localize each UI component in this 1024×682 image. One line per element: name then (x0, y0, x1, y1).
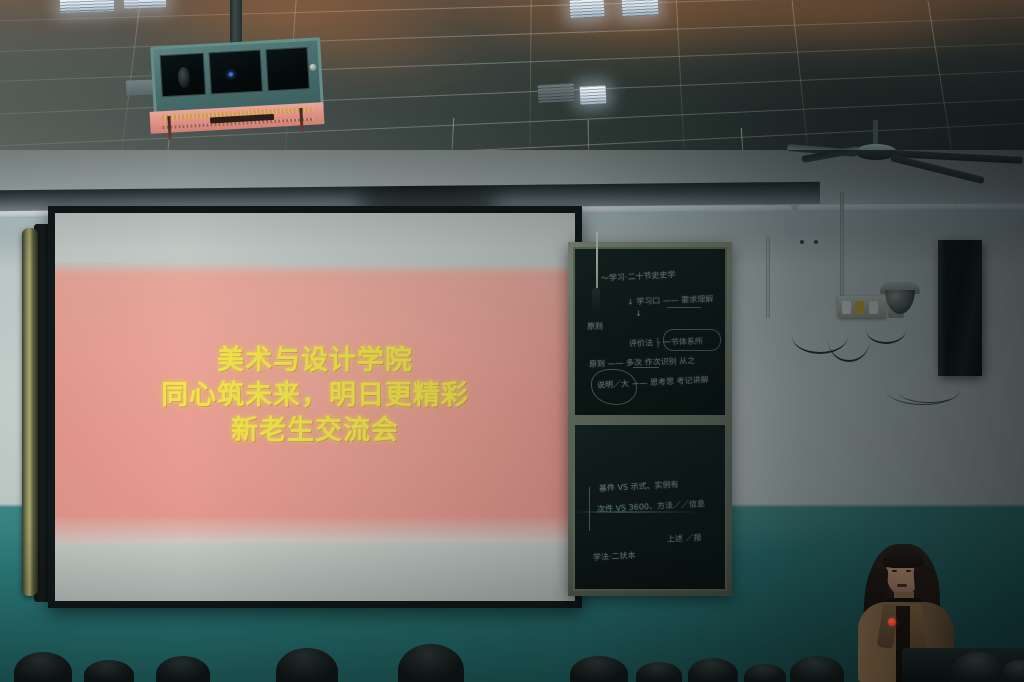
switch-white-right[interactable] (869, 301, 878, 314)
projection-screen-unit: 美术与设计学院 同心筑未来，明日更精彩 新老生交流会 (22, 206, 582, 614)
recessed-light-4 (621, 0, 658, 17)
wall-conduit-pipe (840, 192, 844, 300)
projection-screen-frame: 美术与设计学院 同心筑未来，明日更精彩 新老生交流会 (48, 206, 582, 608)
slide-line-2: 同心筑未来，明日更精彩 (55, 378, 575, 413)
audience-head (636, 662, 682, 682)
projector-lens (177, 67, 190, 89)
cable-connector (592, 288, 600, 312)
audience-silhouettes (0, 636, 1024, 682)
wall-anchor (800, 240, 804, 244)
chalk-text: 上述 ／报 (667, 532, 702, 545)
recessed-light-1 (60, 0, 114, 13)
chalk-text: ↓ 学习口 —— 要求理解 (627, 293, 714, 307)
power-cable (828, 318, 870, 362)
red-badge (888, 618, 896, 626)
audience-head (570, 656, 628, 682)
chalk-text: 基件 VS 示式、实例有 (599, 479, 679, 494)
presenter-mouth (897, 584, 907, 587)
presenter-eye (892, 570, 897, 572)
wall-speaker (938, 240, 982, 376)
screen-side-rail (22, 228, 38, 596)
chalkboard-panel-lower: 基件 VS 示式、实例有 次件 VS 3600、方法／／信息 上述 ／报 学法·… (573, 423, 727, 591)
recessed-light-3 (569, 0, 604, 19)
wall-anchor (814, 240, 818, 244)
slide-line-1: 美术与设计学院 (55, 343, 575, 378)
audience-head (398, 644, 464, 682)
switch-white-left[interactable] (842, 301, 851, 314)
projection-screen-surface: 美术与设计学院 同心筑未来，明日更精彩 新老生交流会 (55, 213, 575, 601)
ceiling-projector (140, 0, 360, 140)
chalk-text: 学法·二状本 (593, 550, 636, 563)
ceiling-fan (795, 120, 1024, 200)
recessed-light-5 (580, 85, 607, 104)
slide-line-3: 新老生交流会 (55, 413, 575, 448)
classroom-photo: 美术与设计学院 同心筑未来，明日更精彩 新老生交流会 ～学习·二十节史史学 ↓ … (0, 0, 1024, 682)
chalk-text: ～学习·二十节史史学 (601, 269, 676, 284)
audience-head (14, 652, 72, 682)
wall-conduit-pipe (766, 236, 770, 318)
power-cable (866, 316, 906, 344)
presentation-slide-text: 美术与设计学院 同心筑未来，明日更精彩 新老生交流会 (55, 343, 575, 448)
hanging-cable (596, 232, 598, 294)
audience-head (744, 664, 786, 682)
projector-power-led (229, 72, 233, 76)
camera-dome-lens (885, 290, 915, 314)
dome-security-camera (878, 282, 922, 316)
fan-downrod (873, 120, 878, 146)
chalk-text: ↓ (635, 309, 642, 318)
audience-head (790, 656, 844, 682)
fluorescent-tube-3 (798, 203, 1024, 211)
recessed-light-6 (538, 83, 575, 103)
switch-yellow[interactable] (855, 301, 864, 314)
audience-head (688, 658, 738, 682)
presenter-eye (906, 570, 911, 572)
speaker-cable (898, 380, 960, 403)
audience-head (156, 656, 210, 682)
audience-head (276, 648, 338, 682)
audience-head (84, 660, 134, 682)
speaker-antenna (956, 182, 957, 242)
